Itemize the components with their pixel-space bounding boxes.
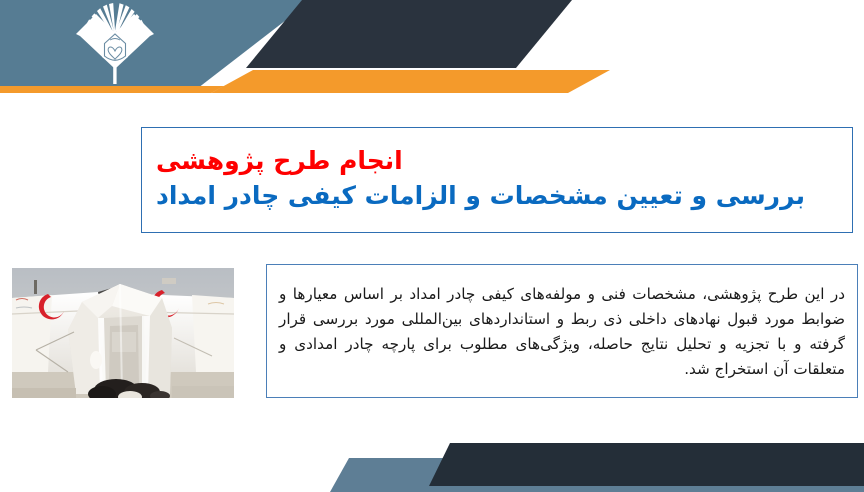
header-navy-shape (246, 0, 572, 68)
description-paragraph: در این طرح پژوهشی، مشخصات فنی و مولفه‌ها… (279, 282, 845, 382)
organization-logo (72, 2, 158, 86)
footer-navy-shape (429, 443, 864, 486)
relief-tent-photo (12, 268, 234, 398)
footer-steel-shape (330, 458, 864, 492)
slide-title-box: انجام طرح پژوهشی بررسی و تعیین مشخصات و … (141, 127, 853, 233)
header-orange-shape (211, 70, 610, 93)
open-book-rays-icon (72, 2, 158, 86)
slide-canvas: انجام طرح پژوهشی بررسی و تعیین مشخصات و … (0, 0, 864, 492)
description-box: در این طرح پژوهشی، مشخصات فنی و مولفه‌ها… (266, 264, 858, 398)
header-orange-strip (0, 86, 224, 93)
title-line-secondary: بررسی و تعیین مشخصات و الزامات کیفی چادر… (156, 178, 805, 214)
title-line-primary: انجام طرح پژوهشی (156, 143, 403, 179)
footer-decoration (0, 420, 864, 492)
